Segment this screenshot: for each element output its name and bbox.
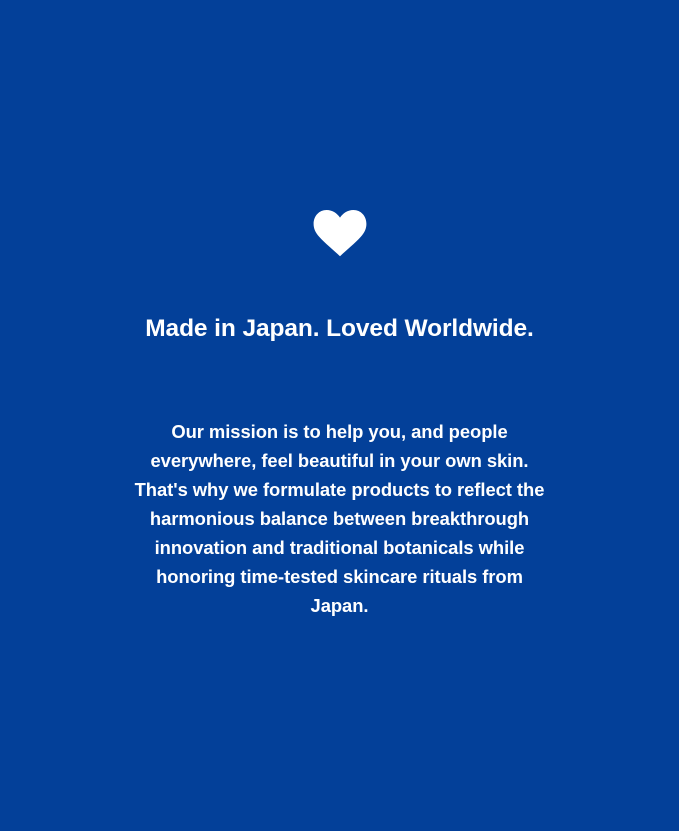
brand-mission-section: Made in Japan. Loved Worldwide. Our miss…	[0, 0, 679, 831]
page-title: Made in Japan. Loved Worldwide.	[0, 313, 679, 345]
heart-icon	[0, 209, 679, 257]
mission-body-container: Our mission is to help you, and people e…	[0, 417, 679, 620]
mission-statement-text: Our mission is to help you, and people e…	[130, 417, 550, 620]
